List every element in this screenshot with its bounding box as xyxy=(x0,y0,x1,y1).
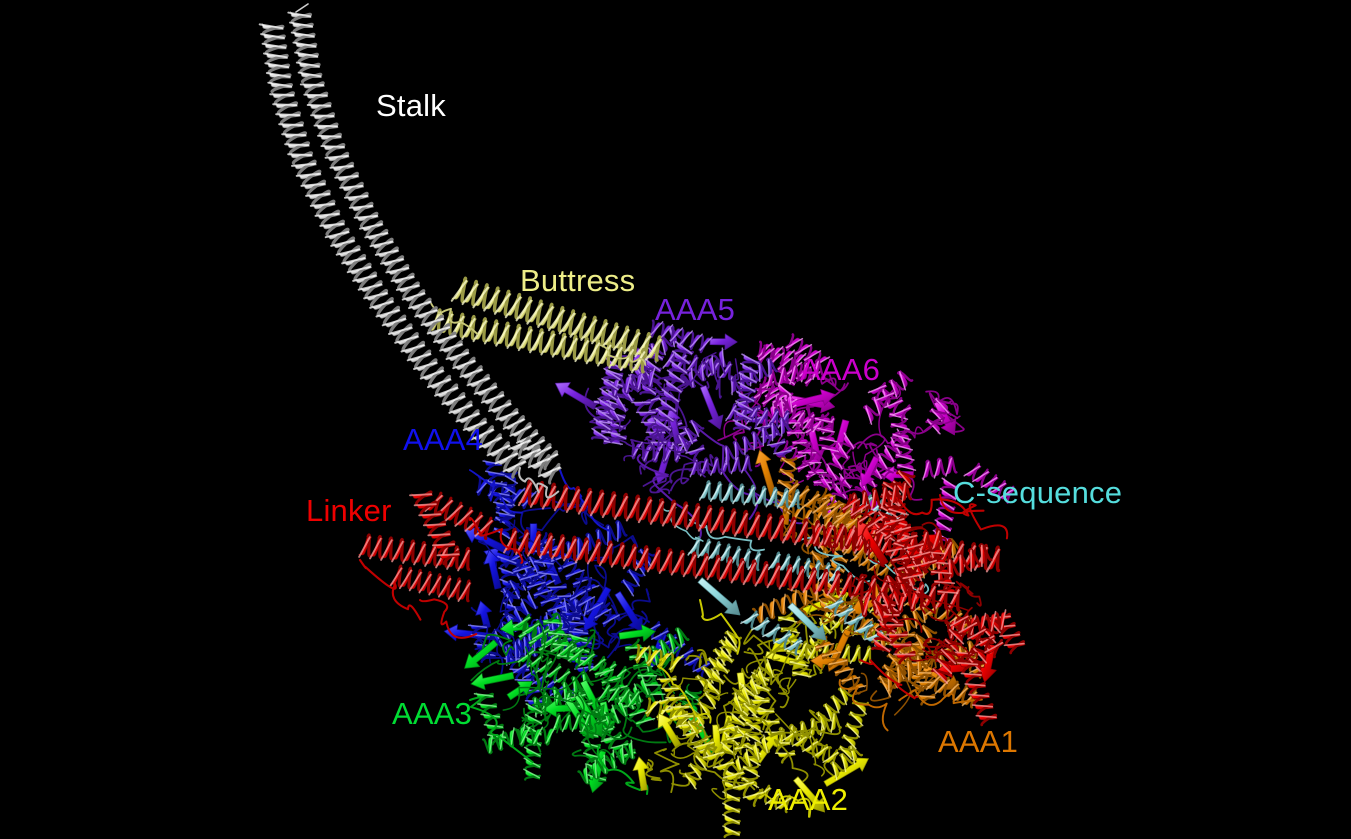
label-stalk: Stalk xyxy=(376,90,446,121)
label-linker: Linker xyxy=(306,495,392,526)
molecular-structure-viewport: Stalk Buttress AAA5 AAA6 AAA4 Linker C-s… xyxy=(0,0,1351,839)
label-aaa5: AAA5 xyxy=(655,294,735,325)
label-aaa3: AAA3 xyxy=(392,698,472,729)
label-aaa4: AAA4 xyxy=(403,424,483,455)
molecule-render xyxy=(0,0,1351,839)
label-aaa2: AAA2 xyxy=(768,784,848,815)
label-aaa6: AAA6 xyxy=(800,354,880,385)
label-aaa1: AAA1 xyxy=(938,726,1018,757)
label-c-sequence: C-sequence xyxy=(953,477,1122,508)
label-buttress: Buttress xyxy=(520,265,635,296)
